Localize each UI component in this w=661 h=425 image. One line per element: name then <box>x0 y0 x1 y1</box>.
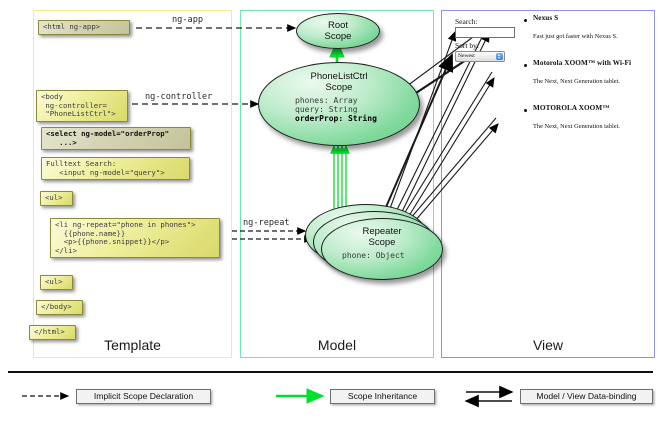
legend-implicit-scope-declaration: Implicit Scope Declaration <box>76 389 211 404</box>
legend-scope-inheritance: Scope Inheritance <box>330 389 435 404</box>
legend-model-view-data-binding: Model / View Data-binding <box>520 389 653 404</box>
diagram-canvas: Template Model View <box>0 0 661 425</box>
legend-arrow-layer <box>0 0 661 425</box>
